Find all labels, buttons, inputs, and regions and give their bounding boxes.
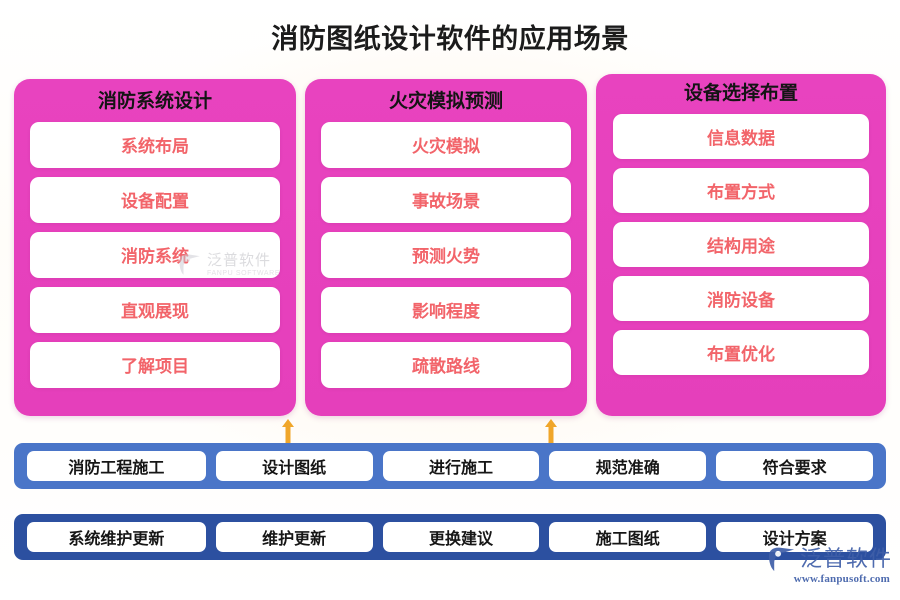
blue-row-construction: 消防工程施工 设计图纸 进行施工 规范准确 符合要求 [14,443,886,489]
blue-row-2-item-1[interactable]: 系统维护更新 [27,522,206,552]
blue-row-2-item-5[interactable]: 设计方案 [716,522,873,552]
column-2-item-5[interactable]: 疏散路线 [321,342,571,388]
column-1-item-2[interactable]: 设备配置 [30,177,280,223]
column-3-item-1[interactable]: 信息数据 [613,114,869,159]
blue-row-1-item-2[interactable]: 设计图纸 [216,451,373,481]
page-title: 消防图纸设计软件的应用场景 [0,23,900,55]
blue-row-2-item-3[interactable]: 更换建议 [383,522,540,552]
column-1-item-3[interactable]: 消防系统 [30,232,280,278]
blue-row-2-item-4[interactable]: 施工图纸 [549,522,706,552]
column-1-item-5[interactable]: 了解项目 [30,342,280,388]
column-3-item-3[interactable]: 结构用途 [613,222,869,267]
column-3-title: 设备选择布置 [684,80,798,108]
blue-row-2-item-2[interactable]: 维护更新 [216,522,373,552]
blue-row-1-item-1[interactable]: 消防工程施工 [27,451,206,481]
blue-row-maintenance: 系统维护更新 维护更新 更换建议 施工图纸 设计方案 [14,514,886,560]
column-2-item-2[interactable]: 事故场景 [321,177,571,223]
pink-columns-group: 消防系统设计 系统布局 设备配置 消防系统 直观展现 了解项目 火灾模拟预测 火… [14,79,886,416]
column-2-title: 火灾模拟预测 [389,88,503,116]
column-2-item-1[interactable]: 火灾模拟 [321,122,571,168]
pink-column-3: 设备选择布置 信息数据 布置方式 结构用途 消防设备 布置优化 [596,74,886,416]
column-3-item-2[interactable]: 布置方式 [613,168,869,213]
infographic-canvas: 消防图纸设计软件的应用场景 消防系统设计 系统布局 设备配置 消防系统 直观展现… [0,0,900,600]
column-3-items: 信息数据 布置方式 结构用途 消防设备 布置优化 [613,114,869,375]
pink-column-2: 火灾模拟预测 火灾模拟 事故场景 预测火势 影响程度 疏散路线 [305,79,587,416]
blue-row-1-item-4[interactable]: 规范准确 [549,451,706,481]
column-2-item-3[interactable]: 预测火势 [321,232,571,278]
blue-row-1-item-5[interactable]: 符合要求 [716,451,873,481]
column-1-title: 消防系统设计 [98,88,212,116]
column-1-item-1[interactable]: 系统布局 [30,122,280,168]
column-1-item-4[interactable]: 直观展现 [30,287,280,333]
column-2-items: 火灾模拟 事故场景 预测火势 影响程度 疏散路线 [321,122,571,388]
blue-row-1-item-3[interactable]: 进行施工 [383,451,540,481]
column-3-item-5[interactable]: 布置优化 [613,330,869,375]
pink-column-1: 消防系统设计 系统布局 设备配置 消防系统 直观展现 了解项目 [14,79,296,416]
column-3-item-4[interactable]: 消防设备 [613,276,869,321]
column-2-item-4[interactable]: 影响程度 [321,287,571,333]
watermark-corner-url: www.fanpusoft.com [794,573,890,585]
column-1-items: 系统布局 设备配置 消防系统 直观展现 了解项目 [30,122,280,388]
